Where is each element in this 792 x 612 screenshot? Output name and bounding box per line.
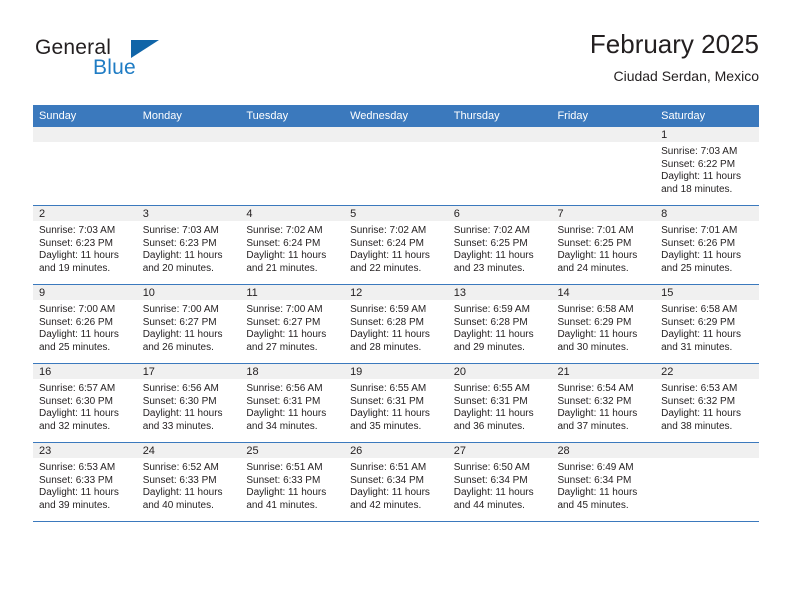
daylight-text-line2: and 41 minutes. [246, 500, 340, 513]
day-details: Sunrise: 6:52 AMSunset: 6:33 PMDaylight:… [137, 458, 241, 512]
daylight-text-line1: Daylight: 11 hours [143, 408, 237, 421]
daylight-text-line2: and 31 minutes. [661, 342, 755, 355]
sunset-text: Sunset: 6:29 PM [661, 317, 755, 330]
day-number: 15 [655, 285, 759, 300]
calendar-day-cell[interactable]: 17Sunrise: 6:56 AMSunset: 6:30 PMDayligh… [137, 364, 241, 443]
calendar-day-cell[interactable]: 20Sunrise: 6:55 AMSunset: 6:31 PMDayligh… [448, 364, 552, 443]
sunrise-text: Sunrise: 6:53 AM [39, 462, 133, 475]
day-details: Sunrise: 7:03 AMSunset: 6:23 PMDaylight:… [33, 221, 137, 275]
daylight-text-line1: Daylight: 11 hours [661, 171, 755, 184]
day-details: Sunrise: 6:50 AMSunset: 6:34 PMDaylight:… [448, 458, 552, 512]
daylight-text-line2: and 30 minutes. [557, 342, 651, 355]
calendar-day-cell[interactable]: 5Sunrise: 7:02 AMSunset: 6:24 PMDaylight… [344, 206, 448, 285]
calendar-grid: Sunday Monday Tuesday Wednesday Thursday… [33, 105, 759, 522]
daylight-text-line1: Daylight: 11 hours [557, 250, 651, 263]
daylight-text-line1: Daylight: 11 hours [454, 408, 548, 421]
calendar-week-row: 2Sunrise: 7:03 AMSunset: 6:23 PMDaylight… [33, 206, 759, 285]
day-details: Sunrise: 6:56 AMSunset: 6:30 PMDaylight:… [137, 379, 241, 433]
sunrise-text: Sunrise: 6:55 AM [350, 383, 444, 396]
calendar-day-cell[interactable]: 21Sunrise: 6:54 AMSunset: 6:32 PMDayligh… [551, 364, 655, 443]
day-details: Sunrise: 6:58 AMSunset: 6:29 PMDaylight:… [655, 300, 759, 354]
weekday-header-friday: Friday [551, 105, 655, 127]
day-details: Sunrise: 6:49 AMSunset: 6:34 PMDaylight:… [551, 458, 655, 512]
daylight-text-line2: and 44 minutes. [454, 500, 548, 513]
day-details: Sunrise: 6:59 AMSunset: 6:28 PMDaylight:… [344, 300, 448, 354]
day-details: Sunrise: 7:03 AMSunset: 6:22 PMDaylight:… [655, 142, 759, 196]
daylight-text-line1: Daylight: 11 hours [143, 487, 237, 500]
sunrise-text: Sunrise: 6:57 AM [39, 383, 133, 396]
day-number: 18 [240, 364, 344, 379]
calendar-day-cell-empty [344, 127, 448, 206]
daylight-text-line2: and 25 minutes. [39, 342, 133, 355]
day-number [655, 443, 759, 458]
daylight-text-line1: Daylight: 11 hours [246, 329, 340, 342]
day-number: 14 [551, 285, 655, 300]
general-blue-logo[interactable]: General Blue [33, 36, 253, 88]
sunrise-text: Sunrise: 7:00 AM [143, 304, 237, 317]
sunrise-text: Sunrise: 6:52 AM [143, 462, 237, 475]
sunrise-text: Sunrise: 7:03 AM [143, 225, 237, 238]
day-number: 8 [655, 206, 759, 221]
daylight-text-line1: Daylight: 11 hours [246, 487, 340, 500]
sunrise-text: Sunrise: 7:02 AM [246, 225, 340, 238]
weekday-header-sunday: Sunday [33, 105, 137, 127]
sunset-text: Sunset: 6:28 PM [454, 317, 548, 330]
calendar-table: Sunday Monday Tuesday Wednesday Thursday… [33, 105, 759, 522]
day-details: Sunrise: 7:00 AMSunset: 6:26 PMDaylight:… [33, 300, 137, 354]
daylight-text-line2: and 29 minutes. [454, 342, 548, 355]
calendar-day-cell[interactable]: 11Sunrise: 7:00 AMSunset: 6:27 PMDayligh… [240, 285, 344, 364]
day-details: Sunrise: 7:01 AMSunset: 6:25 PMDaylight:… [551, 221, 655, 275]
day-number: 7 [551, 206, 655, 221]
sunset-text: Sunset: 6:31 PM [246, 396, 340, 409]
daylight-text-line1: Daylight: 11 hours [350, 329, 444, 342]
day-number: 9 [33, 285, 137, 300]
calendar-day-cell[interactable]: 28Sunrise: 6:49 AMSunset: 6:34 PMDayligh… [551, 443, 655, 522]
sunrise-text: Sunrise: 7:03 AM [39, 225, 133, 238]
day-number: 5 [344, 206, 448, 221]
daylight-text-line1: Daylight: 11 hours [557, 329, 651, 342]
sunset-text: Sunset: 6:30 PM [39, 396, 133, 409]
calendar-day-cell[interactable]: 27Sunrise: 6:50 AMSunset: 6:34 PMDayligh… [448, 443, 552, 522]
day-number: 27 [448, 443, 552, 458]
day-number: 16 [33, 364, 137, 379]
sunrise-text: Sunrise: 6:58 AM [557, 304, 651, 317]
calendar-day-cell[interactable]: 6Sunrise: 7:02 AMSunset: 6:25 PMDaylight… [448, 206, 552, 285]
day-number [33, 127, 137, 142]
daylight-text-line1: Daylight: 11 hours [661, 408, 755, 421]
calendar-day-cell[interactable]: 1Sunrise: 7:03 AMSunset: 6:22 PMDaylight… [655, 127, 759, 206]
calendar-day-cell-empty [551, 127, 655, 206]
daylight-text-line1: Daylight: 11 hours [350, 250, 444, 263]
daylight-text-line1: Daylight: 11 hours [557, 408, 651, 421]
day-number: 6 [448, 206, 552, 221]
day-details: Sunrise: 7:01 AMSunset: 6:26 PMDaylight:… [655, 221, 759, 275]
logo-text-blue: Blue [93, 56, 136, 80]
weekday-header-wednesday: Wednesday [344, 105, 448, 127]
day-number: 20 [448, 364, 552, 379]
calendar-body: 1Sunrise: 7:03 AMSunset: 6:22 PMDaylight… [33, 127, 759, 522]
sunset-text: Sunset: 6:34 PM [350, 475, 444, 488]
calendar-day-cell[interactable]: 16Sunrise: 6:57 AMSunset: 6:30 PMDayligh… [33, 364, 137, 443]
sunrise-text: Sunrise: 6:56 AM [143, 383, 237, 396]
day-number: 2 [33, 206, 137, 221]
sunrise-text: Sunrise: 6:49 AM [557, 462, 651, 475]
sunset-text: Sunset: 6:23 PM [39, 238, 133, 251]
day-details: Sunrise: 6:56 AMSunset: 6:31 PMDaylight:… [240, 379, 344, 433]
calendar-week-row: 16Sunrise: 6:57 AMSunset: 6:30 PMDayligh… [33, 364, 759, 443]
day-number [240, 127, 344, 142]
sunset-text: Sunset: 6:33 PM [39, 475, 133, 488]
sunset-text: Sunset: 6:24 PM [350, 238, 444, 251]
title-block: February 2025 Ciudad Serdan, Mexico [590, 28, 759, 86]
calendar-day-cell[interactable]: 12Sunrise: 6:59 AMSunset: 6:28 PMDayligh… [344, 285, 448, 364]
sunrise-text: Sunrise: 6:54 AM [557, 383, 651, 396]
daylight-text-line2: and 23 minutes. [454, 263, 548, 276]
sunset-text: Sunset: 6:32 PM [661, 396, 755, 409]
sunrise-text: Sunrise: 6:56 AM [246, 383, 340, 396]
sunset-text: Sunset: 6:25 PM [454, 238, 548, 251]
sunset-text: Sunset: 6:34 PM [454, 475, 548, 488]
calendar-day-cell[interactable]: 24Sunrise: 6:52 AMSunset: 6:33 PMDayligh… [137, 443, 241, 522]
daylight-text-line2: and 21 minutes. [246, 263, 340, 276]
calendar-day-cell-empty [137, 127, 241, 206]
day-number: 23 [33, 443, 137, 458]
daylight-text-line2: and 37 minutes. [557, 421, 651, 434]
daylight-text-line2: and 45 minutes. [557, 500, 651, 513]
day-number: 25 [240, 443, 344, 458]
daylight-text-line1: Daylight: 11 hours [350, 487, 444, 500]
daylight-text-line2: and 42 minutes. [350, 500, 444, 513]
day-number [551, 127, 655, 142]
sunrise-text: Sunrise: 7:01 AM [661, 225, 755, 238]
sunset-text: Sunset: 6:28 PM [350, 317, 444, 330]
daylight-text-line1: Daylight: 11 hours [661, 250, 755, 263]
calendar-day-cell-empty [33, 127, 137, 206]
sunset-text: Sunset: 6:33 PM [143, 475, 237, 488]
sunset-text: Sunset: 6:25 PM [557, 238, 651, 251]
day-number: 22 [655, 364, 759, 379]
day-number: 10 [137, 285, 241, 300]
day-number: 1 [655, 127, 759, 142]
sunrise-text: Sunrise: 7:00 AM [246, 304, 340, 317]
day-number: 12 [344, 285, 448, 300]
sunset-text: Sunset: 6:23 PM [143, 238, 237, 251]
sunrise-text: Sunrise: 6:53 AM [661, 383, 755, 396]
calendar-week-row: 1Sunrise: 7:03 AMSunset: 6:22 PMDaylight… [33, 127, 759, 206]
day-details: Sunrise: 6:59 AMSunset: 6:28 PMDaylight:… [448, 300, 552, 354]
daylight-text-line1: Daylight: 11 hours [661, 329, 755, 342]
sunset-text: Sunset: 6:26 PM [39, 317, 133, 330]
daylight-text-line2: and 33 minutes. [143, 421, 237, 434]
calendar-day-cell[interactable]: 8Sunrise: 7:01 AMSunset: 6:26 PMDaylight… [655, 206, 759, 285]
daylight-text-line1: Daylight: 11 hours [454, 487, 548, 500]
daylight-text-line2: and 35 minutes. [350, 421, 444, 434]
daylight-text-line1: Daylight: 11 hours [350, 408, 444, 421]
calendar-day-cell-empty [448, 127, 552, 206]
page-header: General Blue February 2025 Ciudad Serdan… [33, 28, 759, 100]
weekday-header-monday: Monday [137, 105, 241, 127]
daylight-text-line1: Daylight: 11 hours [454, 250, 548, 263]
daylight-text-line1: Daylight: 11 hours [557, 487, 651, 500]
sunset-text: Sunset: 6:26 PM [661, 238, 755, 251]
daylight-text-line2: and 28 minutes. [350, 342, 444, 355]
day-number: 24 [137, 443, 241, 458]
daylight-text-line2: and 26 minutes. [143, 342, 237, 355]
sunset-text: Sunset: 6:32 PM [557, 396, 651, 409]
day-number: 26 [344, 443, 448, 458]
day-details: Sunrise: 6:57 AMSunset: 6:30 PMDaylight:… [33, 379, 137, 433]
calendar-day-cell[interactable]: 4Sunrise: 7:02 AMSunset: 6:24 PMDaylight… [240, 206, 344, 285]
sunset-text: Sunset: 6:31 PM [454, 396, 548, 409]
sunset-text: Sunset: 6:27 PM [143, 317, 237, 330]
sunrise-text: Sunrise: 7:02 AM [454, 225, 548, 238]
daylight-text-line2: and 19 minutes. [39, 263, 133, 276]
daylight-text-line1: Daylight: 11 hours [246, 250, 340, 263]
sunrise-text: Sunrise: 6:59 AM [350, 304, 444, 317]
calendar-week-row: 9Sunrise: 7:00 AMSunset: 6:26 PMDaylight… [33, 285, 759, 364]
sunrise-text: Sunrise: 6:59 AM [454, 304, 548, 317]
day-number: 19 [344, 364, 448, 379]
calendar-day-cell[interactable]: 13Sunrise: 6:59 AMSunset: 6:28 PMDayligh… [448, 285, 552, 364]
calendar-day-cell[interactable]: 18Sunrise: 6:56 AMSunset: 6:31 PMDayligh… [240, 364, 344, 443]
day-details: Sunrise: 7:00 AMSunset: 6:27 PMDaylight:… [240, 300, 344, 354]
daylight-text-line2: and 25 minutes. [661, 263, 755, 276]
sunrise-text: Sunrise: 7:00 AM [39, 304, 133, 317]
sunset-text: Sunset: 6:30 PM [143, 396, 237, 409]
calendar-day-cell[interactable]: 7Sunrise: 7:01 AMSunset: 6:25 PMDaylight… [551, 206, 655, 285]
day-details: Sunrise: 6:55 AMSunset: 6:31 PMDaylight:… [344, 379, 448, 433]
day-details: Sunrise: 6:53 AMSunset: 6:32 PMDaylight:… [655, 379, 759, 433]
calendar-day-cell[interactable]: 22Sunrise: 6:53 AMSunset: 6:32 PMDayligh… [655, 364, 759, 443]
calendar-day-cell-empty [240, 127, 344, 206]
day-number: 4 [240, 206, 344, 221]
daylight-text-line1: Daylight: 11 hours [39, 408, 133, 421]
page-title: February 2025 [590, 28, 759, 60]
day-details: Sunrise: 7:02 AMSunset: 6:24 PMDaylight:… [240, 221, 344, 275]
daylight-text-line2: and 36 minutes. [454, 421, 548, 434]
day-details: Sunrise: 6:55 AMSunset: 6:31 PMDaylight:… [448, 379, 552, 433]
daylight-text-line1: Daylight: 11 hours [39, 329, 133, 342]
day-details: Sunrise: 6:53 AMSunset: 6:33 PMDaylight:… [33, 458, 137, 512]
sunrise-text: Sunrise: 6:50 AM [454, 462, 548, 475]
weekday-header-saturday: Saturday [655, 105, 759, 127]
sunrise-text: Sunrise: 7:03 AM [661, 146, 755, 159]
calendar-week-row: 23Sunrise: 6:53 AMSunset: 6:33 PMDayligh… [33, 443, 759, 522]
day-details: Sunrise: 7:02 AMSunset: 6:24 PMDaylight:… [344, 221, 448, 275]
day-details: Sunrise: 7:00 AMSunset: 6:27 PMDaylight:… [137, 300, 241, 354]
daylight-text-line1: Daylight: 11 hours [39, 250, 133, 263]
weekday-header-thursday: Thursday [448, 105, 552, 127]
sunrise-text: Sunrise: 7:01 AM [557, 225, 651, 238]
sunset-text: Sunset: 6:29 PM [557, 317, 651, 330]
daylight-text-line2: and 22 minutes. [350, 263, 444, 276]
daylight-text-line1: Daylight: 11 hours [454, 329, 548, 342]
day-details: Sunrise: 7:02 AMSunset: 6:25 PMDaylight:… [448, 221, 552, 275]
day-details: Sunrise: 6:58 AMSunset: 6:29 PMDaylight:… [551, 300, 655, 354]
calendar-day-cell[interactable]: 9Sunrise: 7:00 AMSunset: 6:26 PMDaylight… [33, 285, 137, 364]
calendar-day-cell[interactable]: 3Sunrise: 7:03 AMSunset: 6:23 PMDaylight… [137, 206, 241, 285]
day-number: 3 [137, 206, 241, 221]
daylight-text-line2: and 18 minutes. [661, 184, 755, 197]
sunset-text: Sunset: 6:33 PM [246, 475, 340, 488]
calendar-page: General Blue February 2025 Ciudad Serdan… [0, 0, 792, 612]
sunrise-text: Sunrise: 6:55 AM [454, 383, 548, 396]
daylight-text-line2: and 34 minutes. [246, 421, 340, 434]
day-details: Sunrise: 6:54 AMSunset: 6:32 PMDaylight:… [551, 379, 655, 433]
sunrise-text: Sunrise: 6:51 AM [350, 462, 444, 475]
sunset-text: Sunset: 6:24 PM [246, 238, 340, 251]
daylight-text-line2: and 20 minutes. [143, 263, 237, 276]
calendar-day-cell[interactable]: 23Sunrise: 6:53 AMSunset: 6:33 PMDayligh… [33, 443, 137, 522]
sunset-text: Sunset: 6:34 PM [557, 475, 651, 488]
calendar-day-cell[interactable]: 26Sunrise: 6:51 AMSunset: 6:34 PMDayligh… [344, 443, 448, 522]
sunrise-text: Sunrise: 7:02 AM [350, 225, 444, 238]
calendar-day-cell[interactable]: 2Sunrise: 7:03 AMSunset: 6:23 PMDaylight… [33, 206, 137, 285]
daylight-text-line2: and 27 minutes. [246, 342, 340, 355]
sunset-text: Sunset: 6:22 PM [661, 159, 755, 172]
day-details: Sunrise: 6:51 AMSunset: 6:34 PMDaylight:… [344, 458, 448, 512]
day-number [344, 127, 448, 142]
calendar-day-cell[interactable]: 15Sunrise: 6:58 AMSunset: 6:29 PMDayligh… [655, 285, 759, 364]
daylight-text-line1: Daylight: 11 hours [39, 487, 133, 500]
sunrise-text: Sunrise: 6:51 AM [246, 462, 340, 475]
page-subtitle: Ciudad Serdan, Mexico [590, 66, 759, 86]
daylight-text-line2: and 38 minutes. [661, 421, 755, 434]
calendar-day-cell[interactable]: 19Sunrise: 6:55 AMSunset: 6:31 PMDayligh… [344, 364, 448, 443]
sunset-text: Sunset: 6:27 PM [246, 317, 340, 330]
calendar-day-cell[interactable]: 10Sunrise: 7:00 AMSunset: 6:27 PMDayligh… [137, 285, 241, 364]
daylight-text-line2: and 32 minutes. [39, 421, 133, 434]
daylight-text-line1: Daylight: 11 hours [143, 250, 237, 263]
calendar-day-cell[interactable]: 25Sunrise: 6:51 AMSunset: 6:33 PMDayligh… [240, 443, 344, 522]
day-number [448, 127, 552, 142]
day-number [137, 127, 241, 142]
day-number: 21 [551, 364, 655, 379]
day-number: 13 [448, 285, 552, 300]
weekday-header-row: Sunday Monday Tuesday Wednesday Thursday… [33, 105, 759, 127]
day-number: 11 [240, 285, 344, 300]
day-number: 17 [137, 364, 241, 379]
daylight-text-line2: and 24 minutes. [557, 263, 651, 276]
day-number: 28 [551, 443, 655, 458]
day-details: Sunrise: 7:03 AMSunset: 6:23 PMDaylight:… [137, 221, 241, 275]
daylight-text-line1: Daylight: 11 hours [246, 408, 340, 421]
sunrise-text: Sunrise: 6:58 AM [661, 304, 755, 317]
day-details: Sunrise: 6:51 AMSunset: 6:33 PMDaylight:… [240, 458, 344, 512]
calendar-day-cell[interactable]: 14Sunrise: 6:58 AMSunset: 6:29 PMDayligh… [551, 285, 655, 364]
daylight-text-line2: and 40 minutes. [143, 500, 237, 513]
calendar-day-cell-empty [655, 443, 759, 522]
sunset-text: Sunset: 6:31 PM [350, 396, 444, 409]
daylight-text-line1: Daylight: 11 hours [143, 329, 237, 342]
weekday-header-tuesday: Tuesday [240, 105, 344, 127]
daylight-text-line2: and 39 minutes. [39, 500, 133, 513]
